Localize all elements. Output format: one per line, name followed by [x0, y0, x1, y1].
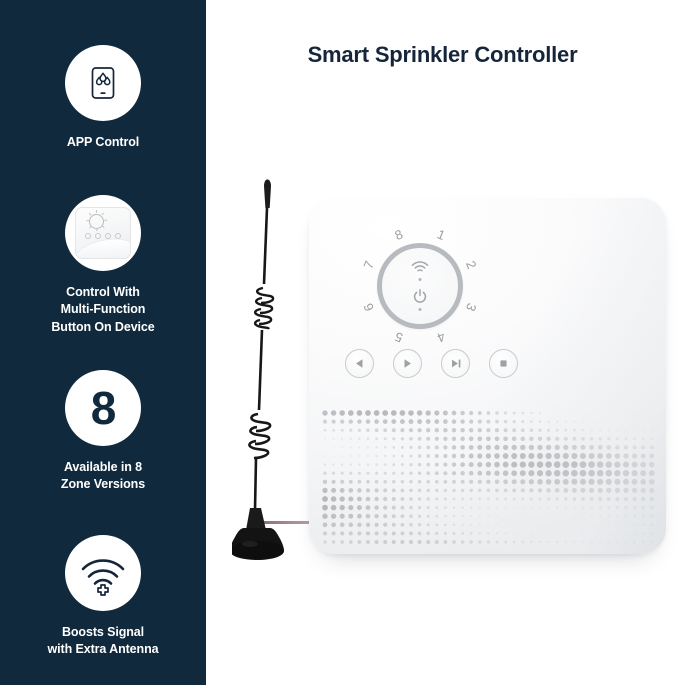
- mini-dial-ray: [102, 225, 105, 228]
- wifi-signal-plus-icon: [65, 535, 141, 611]
- control-button-row: [345, 349, 518, 378]
- product-feature-image: APP Control Control With Multi-Function …: [0, 0, 679, 685]
- previous-icon: [353, 357, 366, 370]
- feature-sidebar: APP Control Control With Multi-Function …: [0, 0, 206, 685]
- mini-device-shadow: [75, 237, 131, 259]
- phone-water-droplets-icon: [65, 45, 141, 121]
- wifi-icon: [411, 261, 430, 274]
- device-multifunction-button-icon: [65, 195, 141, 271]
- previous-button[interactable]: [345, 349, 374, 378]
- feature-eight-zones: 8 Available in 8 Zone Versions: [0, 370, 206, 494]
- mini-dial-ray: [86, 220, 89, 221]
- skip-next-button[interactable]: [441, 349, 470, 378]
- sprinkler-controller-device: 12345678: [309, 197, 666, 554]
- mini-device-photo: [75, 207, 131, 259]
- mini-dial-ray: [102, 213, 105, 216]
- power-led: [419, 308, 422, 311]
- play-button[interactable]: [393, 349, 422, 378]
- dial-zone-number: 1: [431, 225, 452, 246]
- badge-number: 8: [91, 385, 116, 431]
- product-showcase: Smart Sprinkler Controller: [206, 0, 679, 685]
- feature-multifunction-button: Control With Multi-Function Button On De…: [0, 195, 206, 336]
- dial-zone-number: 4: [431, 326, 452, 347]
- skip-next-icon: [449, 357, 463, 370]
- dial-zone-number: 2: [460, 254, 481, 275]
- stop-button[interactable]: [489, 349, 518, 378]
- number-eight-badge: 8: [65, 370, 141, 446]
- stop-icon: [497, 357, 510, 370]
- wifi-led: [419, 278, 422, 281]
- play-icon: [401, 357, 414, 370]
- mini-dial-ray: [96, 210, 97, 213]
- mini-button: [85, 233, 91, 239]
- dial-zone-number: 7: [359, 254, 380, 275]
- mini-button: [95, 233, 101, 239]
- mini-dial-ray: [104, 220, 107, 221]
- feature-label: Control With Multi-Function Button On De…: [51, 284, 154, 336]
- dial-zone-number: 3: [460, 297, 481, 318]
- zone-dial[interactable]: 12345678: [355, 221, 485, 351]
- power-icon: [413, 288, 428, 304]
- dial-indicators: [411, 261, 430, 311]
- feature-label: Boosts Signal with Extra Antenna: [48, 624, 159, 659]
- dial-zone-number: 5: [388, 326, 409, 347]
- feature-label: APP Control: [67, 134, 139, 151]
- feature-extra-antenna: Boosts Signal with Extra Antenna: [0, 535, 206, 659]
- dial-zone-number: 8: [388, 225, 409, 246]
- dial-zone-number: 6: [359, 297, 380, 318]
- feature-label: Available in 8 Zone Versions: [61, 459, 145, 494]
- feature-app-control: APP Control: [0, 45, 206, 151]
- mini-dial-ray: [96, 228, 97, 231]
- halftone-speaker-grille: [309, 405, 666, 554]
